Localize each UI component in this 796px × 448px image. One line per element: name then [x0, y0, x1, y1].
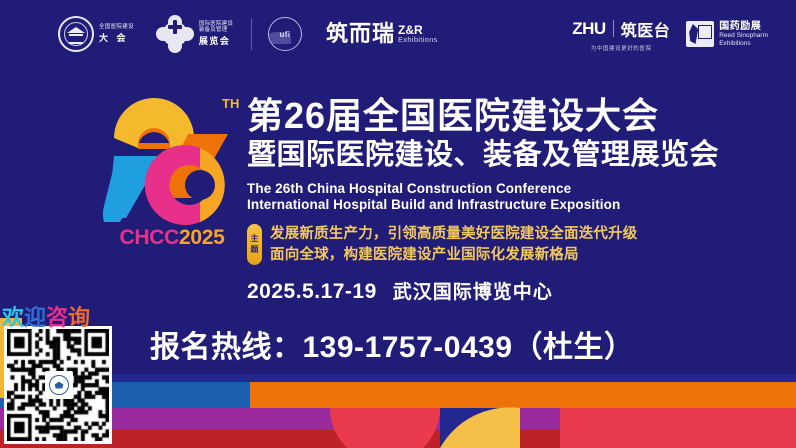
welcome-char-4: 询: [68, 305, 90, 330]
logo-26th-edition: TH CHCC2025: [96, 86, 248, 264]
theme-badge: 主 题: [247, 224, 262, 265]
logo-26-ordinal: TH: [222, 96, 239, 111]
qr-code-cells: [7, 329, 109, 441]
seal-caption-line2: 大 会: [99, 34, 134, 43]
zr-en-sub: Exhibitions: [398, 36, 438, 44]
theme-line-2: 面向全球，构建医院建设产业国际化发展新格局: [270, 245, 638, 266]
consultation-qr-code[interactable]: [4, 326, 112, 444]
logo-zhu-platform: ZHU 筑医台 为中国建设更好的医院: [572, 17, 670, 52]
zhu-tagline: 为中国建设更好的医院: [591, 44, 652, 52]
welcome-char-1: 欢: [2, 305, 24, 330]
main-title-block: 第26届全国医院建设大会 暨国际医院建设、装备及管理展览会 The 26th C…: [247, 96, 767, 304]
zhu-cn-name: 筑医台: [621, 17, 671, 41]
building-seal-icon: [58, 16, 94, 52]
logo-divider: [251, 18, 252, 50]
qr-center-logo: [45, 371, 73, 399]
ufi-roundel-icon: ufi: [268, 17, 302, 51]
poster-root: 全国医院建设 大 会 国际医院建设 装备及管理 展览会 ufi 筑而瑞: [0, 0, 796, 448]
zr-cn-name: 筑而瑞: [326, 23, 395, 45]
title-en-line2: International Hospital Build and Infrast…: [247, 197, 767, 214]
zhu-mark: ZHU: [572, 19, 605, 39]
theme-line-1: 发展新质生产力，引领高质量美好医院建设全面迭代升级: [270, 224, 638, 245]
bottom-color-band: [0, 374, 796, 448]
reed-en-line2: Exhibitions: [719, 40, 768, 47]
flower-caption-line2: 装备及管理: [199, 27, 233, 34]
flower-cross-icon: [156, 15, 194, 53]
registration-hotline: 报名热线：139-1757-0439（杜生）: [150, 322, 796, 366]
top-logo-bar: 全国医院建设 大 会 国际医院建设 装备及管理 展览会 ufi 筑而瑞: [0, 0, 796, 68]
title-cn-primary: 第26届全国医院建设大会: [247, 96, 767, 136]
logo-reed-sinopharm: 国药励展 Reed Sinopharm Exhibitions: [686, 21, 768, 47]
top-right-logo-group: ZHU 筑医台 为中国建设更好的医院 国药励展 Reed Sinopharm E…: [572, 0, 768, 68]
zhu-separator: [613, 20, 614, 37]
logo-chcc-wordmark: CHCC2025: [96, 226, 248, 250]
logo-chcc-conference-seal: 全国医院建设 大 会: [58, 16, 134, 52]
event-date: 2025.5.17-19: [247, 280, 377, 304]
theme-badge-char-1: 主: [251, 234, 259, 244]
title-cn-secondary: 暨国际医院建设、装备及管理展览会: [247, 138, 767, 172]
logo-26-graphic: TH: [96, 86, 248, 226]
title-en-block: The 26th China Hospital Construction Con…: [247, 181, 767, 215]
logo-exhibition-flower: 国际医院建设 装备及管理 展览会: [156, 15, 233, 53]
bottom-band-graphic: [0, 374, 796, 448]
event-venue: 武汉国际博览中心: [393, 277, 553, 304]
reed-en-line1: Reed Sinopharm: [719, 32, 768, 39]
chcc-prefix: CHCC: [120, 226, 179, 249]
logo-zr-exhibitions: 筑而瑞 Z&R Exhibitions: [326, 23, 438, 45]
seal-caption-line1: 全国医院建设: [99, 25, 134, 31]
theme-block: 主 题 发展新质生产力，引领高质量美好医院建设全面迭代升级 面向全球，构建医院建…: [247, 224, 767, 265]
chcc-year: 2025: [179, 226, 225, 249]
welcome-consult-text: 欢迎咨询: [2, 300, 122, 332]
ufi-label: ufi: [280, 30, 291, 39]
reed-cn-name: 国药励展: [719, 21, 768, 33]
title-en-line1: The 26th China Hospital Construction Con…: [247, 181, 767, 198]
theme-badge-char-2: 题: [251, 245, 259, 255]
welcome-char-3: 咨: [46, 305, 68, 330]
welcome-char-2: 迎: [24, 305, 46, 330]
date-venue-block: 2025.5.17-19 武汉国际博览中心: [247, 277, 767, 304]
reed-seal-icon: [686, 21, 714, 47]
flower-caption-line3: 展览会: [199, 36, 233, 47]
